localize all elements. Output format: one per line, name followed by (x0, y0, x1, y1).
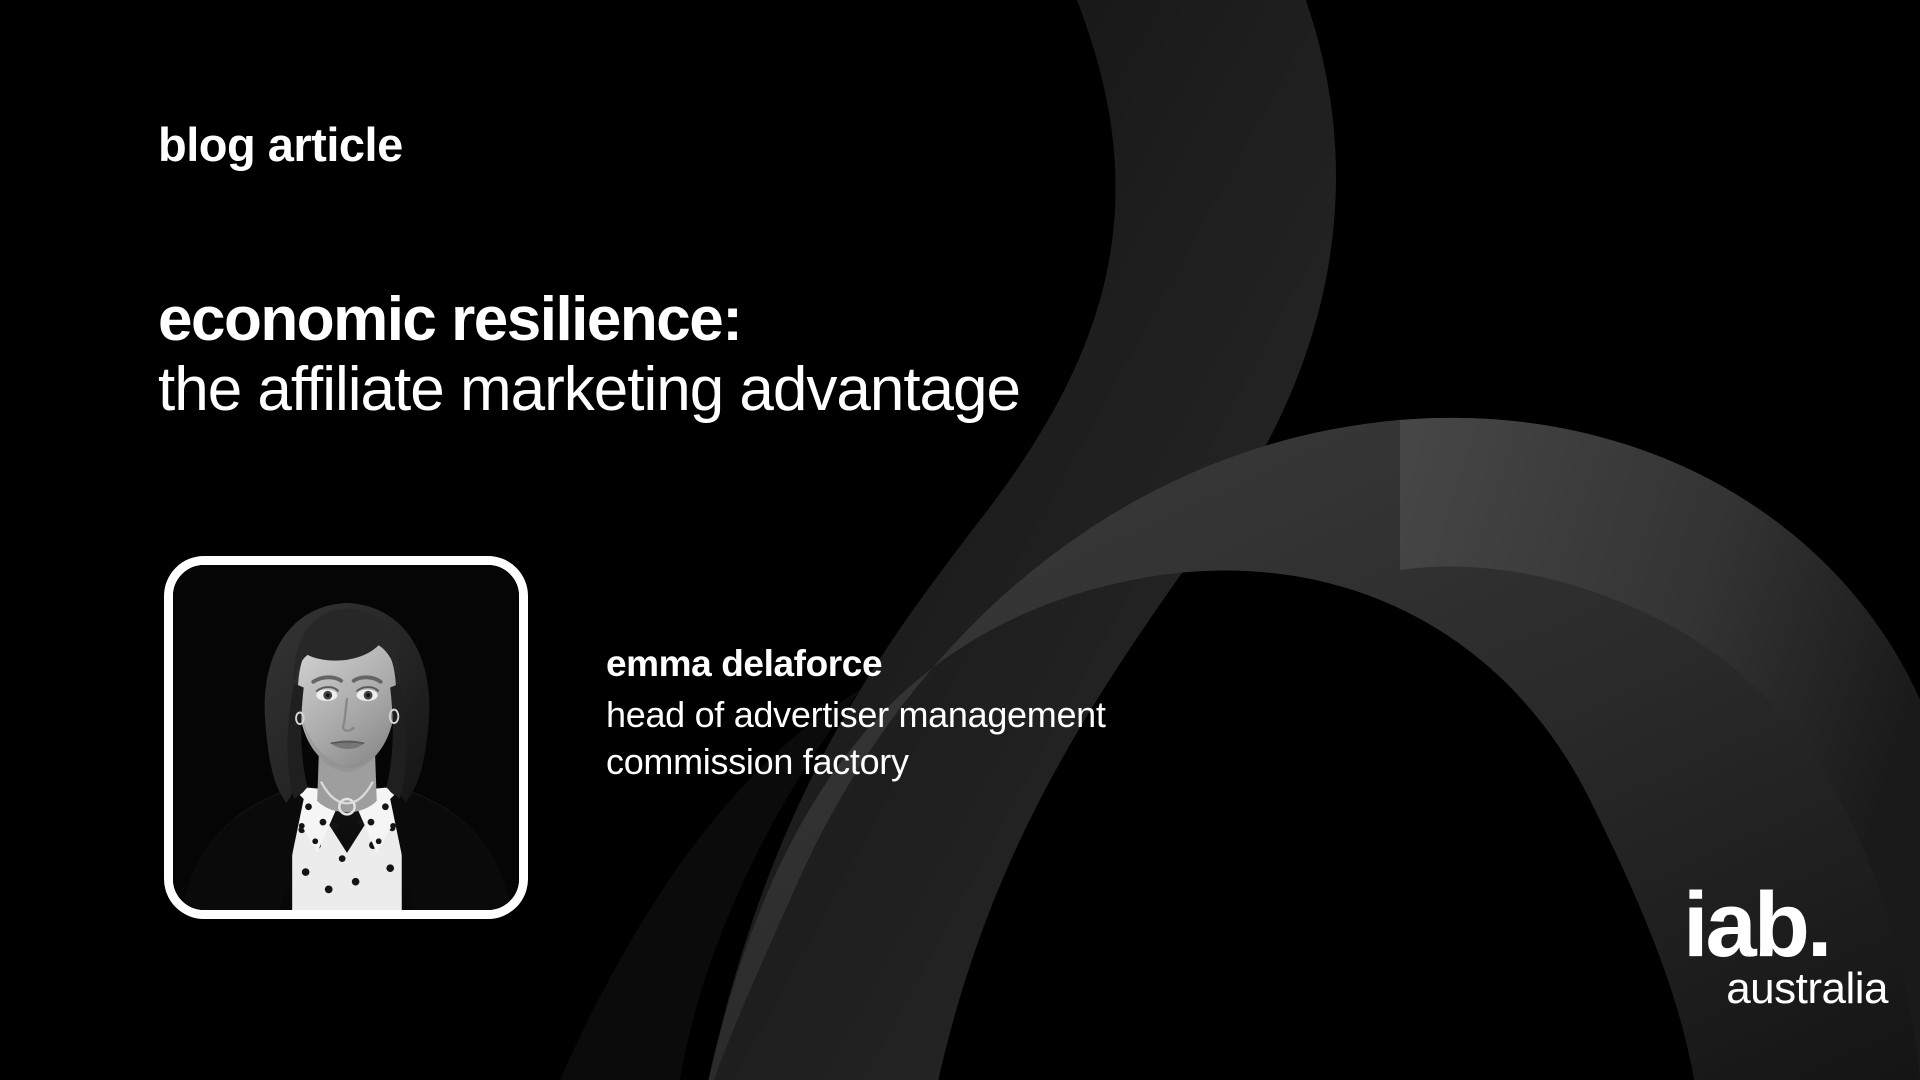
speaker-organisation: commission factory (606, 739, 1106, 786)
page-title: economic resilience: the affiliate marke… (158, 285, 1020, 425)
portrait-photo (173, 565, 519, 910)
speaker-name: emma delaforce (606, 640, 1106, 688)
speaker-role: head of advertiser management (606, 692, 1106, 739)
avatar (164, 556, 528, 919)
eyebrow-label: blog article (158, 120, 403, 169)
headline-line-2: the affiliate marketing advantage (158, 355, 1020, 425)
headline-line-1: economic resilience: (158, 285, 1020, 355)
iab-australia-logo: iab. australia (1683, 887, 1888, 1032)
speaker-details: emma delaforce head of advertiser manage… (606, 640, 1106, 786)
logo-wordmark: iab. (1683, 887, 1888, 964)
blog-article-banner: blog article economic resilience: the af… (0, 0, 1920, 1080)
